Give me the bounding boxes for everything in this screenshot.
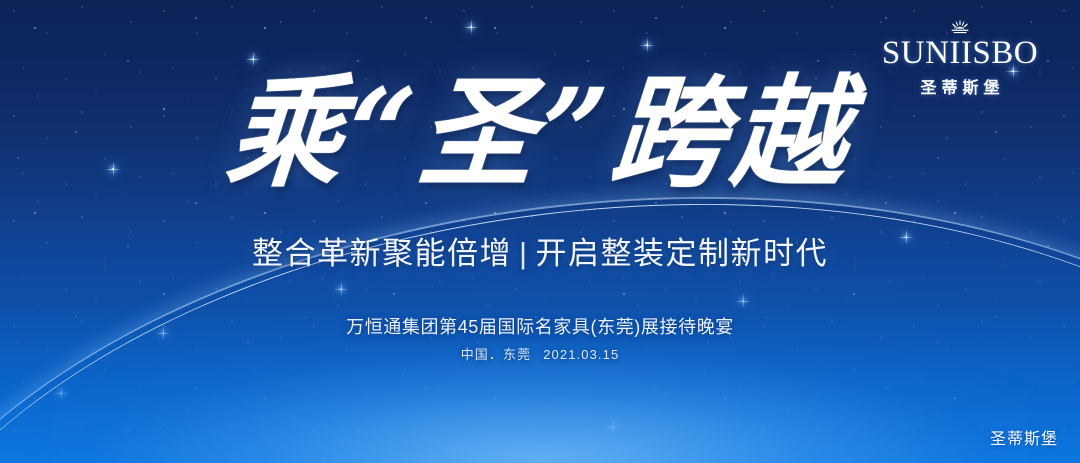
star-sparkle-icon [340, 288, 342, 290]
star-sparkle-icon [612, 426, 614, 428]
star-sparkle-icon [60, 392, 62, 394]
event-meta: 中国．东莞2021.03.15 [0, 344, 1080, 363]
star-sparkle-icon [646, 44, 648, 46]
event-date: 2021.03.15 [543, 347, 619, 362]
lotus-sunburst-icon [945, 18, 975, 36]
star-sparkle-icon [252, 58, 254, 60]
star-sparkle-icon [470, 26, 472, 28]
event-location: 中国．东莞 [461, 347, 532, 362]
event-title: 万恒通集团第45届国际名家具(东莞)展接待晚宴 [0, 313, 1080, 339]
event-banner: SUNIISBO 圣蒂斯堡 乘“圣”跨越 整合革新聚能倍增|开启整装定制新时代 … [0, 0, 1080, 463]
subtitle-right: 开启整装定制新时代 [536, 236, 829, 271]
star-sparkle-icon [742, 300, 744, 302]
headline-text: 乘“圣”跨越 [222, 74, 858, 195]
logo-wordmark: SUNIISBO [876, 37, 1044, 71]
subtitle: 整合革新聚能倍增|开启整装定制新时代 [0, 228, 1080, 273]
subtitle-separator: | [519, 237, 529, 271]
headline: 乘“圣”跨越 [0, 78, 1080, 190]
subtitle-left: 整合革新聚能倍增 [252, 236, 512, 271]
watermark-label: 圣蒂斯堡 [990, 425, 1058, 449]
